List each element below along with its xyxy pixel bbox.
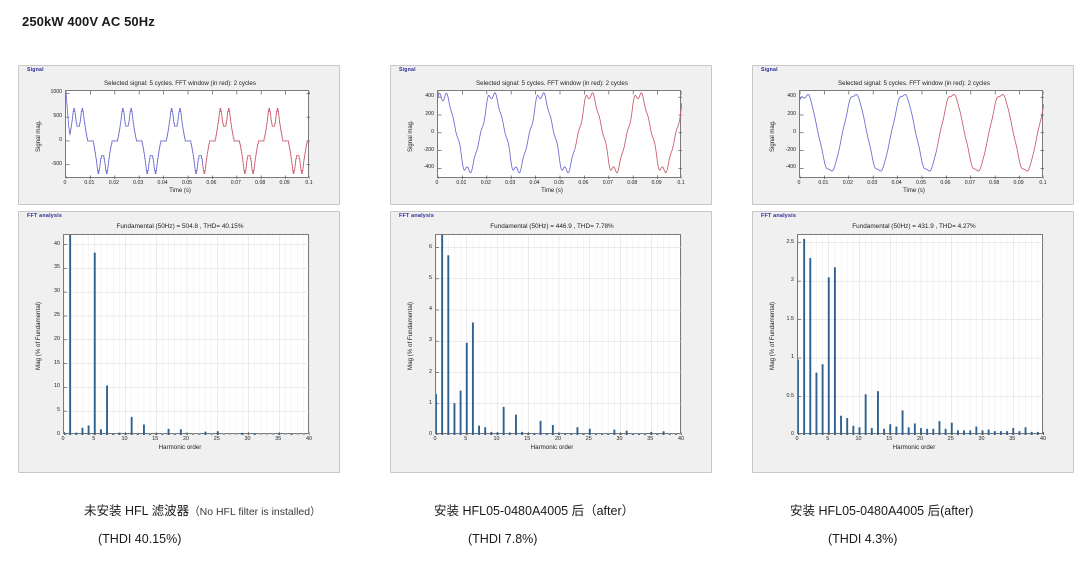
fft-ytick: 6: [413, 244, 432, 250]
fft-group-label-1: FFT analysis: [25, 213, 64, 219]
caption-2-cn: 安装 HFL05-0480A4005 后: [434, 504, 584, 518]
caption-1-en: （No HFL filter is installed）: [189, 506, 320, 518]
signal-ytick: 0: [413, 129, 434, 135]
signal-group-label-2: Signal: [397, 67, 418, 73]
fft-ytick: 0: [413, 431, 432, 437]
fft-ytick: 15: [41, 360, 60, 366]
fft-ytick: 0: [775, 431, 794, 437]
fft-ytick: 35: [41, 264, 60, 270]
signal-xtick: 0.02: [109, 180, 119, 186]
fft-group-1: FFT analysis Fundamental (50Hz) = 504.8 …: [18, 211, 340, 473]
signal-ytick: 500: [41, 113, 62, 119]
signal-trace: [66, 91, 310, 179]
signal-trace: [438, 91, 682, 179]
fft-xtick: 35: [275, 436, 281, 442]
fft-ytick: 40: [41, 241, 60, 247]
fft-xtick: 5: [464, 436, 467, 442]
signal-xtick: 0.01: [84, 180, 94, 186]
signal-plot-title: Selected signal: 5 cycles. FFT window (i…: [391, 80, 713, 87]
fft-axes-1[interactable]: [63, 234, 309, 434]
fft-ytick: 0.5: [775, 393, 794, 399]
fft-group-label-3: FFT analysis: [759, 213, 798, 219]
fft-ytick: 2: [775, 277, 794, 283]
fft-ylabel: Mag (% of Fundamental): [35, 302, 42, 370]
signal-ytick: -400: [775, 164, 796, 170]
fft-ytick: 2.5: [775, 239, 794, 245]
fft-ylabel: Mag (% of Fundamental): [769, 302, 776, 370]
signal-ytick: 1000: [41, 89, 62, 95]
fft-xtick: 10: [856, 436, 862, 442]
caption-2-thdi: (THDI 7.8%): [468, 532, 537, 546]
signal-xtick: 0.06: [206, 180, 216, 186]
signal-ylabel: Signal mag.: [36, 120, 42, 152]
fft-xlabel: Harmonic order: [19, 444, 341, 451]
signal-xtick: 0.04: [530, 180, 540, 186]
signal-xtick: 0.04: [158, 180, 168, 186]
caption-1-thdi: (THDI 40.15%): [98, 532, 181, 546]
fft-xtick: 5: [826, 436, 829, 442]
signal-ytick: 400: [413, 93, 434, 99]
signal-ylabel: Signal mag.: [408, 120, 414, 152]
fft-bars: [798, 235, 1044, 435]
signal-xtick: 0.05: [182, 180, 192, 186]
signal-ytick: 200: [413, 111, 434, 117]
panel-no-filter: Signal Selected signal: 5 cycles. FFT wi…: [18, 65, 340, 473]
fft-xtick: 15: [152, 436, 158, 442]
fft-xtick: 40: [306, 436, 312, 442]
signal-ytick: 200: [775, 111, 796, 117]
fft-ylabel: Mag (% of Fundamental): [407, 302, 414, 370]
fft-ytick: 1: [413, 400, 432, 406]
signal-xtick: 0.04: [892, 180, 902, 186]
screenshot-root: 250kW 400V AC 50Hz Signal Selected signa…: [0, 0, 1090, 574]
fft-xlabel: Harmonic order: [753, 444, 1075, 451]
fft-xtick: 0: [434, 436, 437, 442]
signal-xtick: 0.01: [456, 180, 466, 186]
signal-xtick: 0.05: [916, 180, 926, 186]
caption-3-thdi: (THDI 4.3%): [828, 532, 897, 546]
signal-xtick: 0.1: [1039, 180, 1046, 186]
signal-xlabel: Time (s): [753, 188, 1075, 194]
fft-ytick: 20: [41, 336, 60, 342]
fft-xtick: 30: [617, 436, 623, 442]
signal-axes-2[interactable]: [437, 90, 681, 178]
caption-2: 安装 HFL05-0480A4005 后（after）: [434, 502, 634, 521]
fft-bars: [64, 235, 310, 435]
signal-xtick: 0.03: [505, 180, 515, 186]
caption-3-en: (after): [940, 504, 973, 518]
signal-ytick: -200: [413, 147, 434, 153]
fft-ytick: 5: [41, 407, 60, 413]
signal-axes-3[interactable]: [799, 90, 1043, 178]
page-title: 250kW 400V AC 50Hz: [22, 14, 155, 29]
signal-trace: [800, 91, 1044, 179]
signal-xtick: 0.06: [940, 180, 950, 186]
signal-group-label-1: Signal: [25, 67, 46, 73]
fft-ytick: 4: [413, 306, 432, 312]
fft-group-2: FFT analysis Fundamental (50Hz) = 446.9 …: [390, 211, 712, 473]
signal-xtick: 0.08: [627, 180, 637, 186]
signal-xtick: 0.02: [481, 180, 491, 186]
fft-xtick: 0: [62, 436, 65, 442]
fft-xtick: 25: [586, 436, 592, 442]
signal-group-2: Signal Selected signal: 5 cycles. FFT wi…: [390, 65, 712, 205]
caption-3-cn: 安装 HFL05-0480A4005 后: [790, 504, 940, 518]
fft-xtick: 20: [917, 436, 923, 442]
panel-filter-b: Signal Selected signal: 5 cycles. FFT wi…: [752, 65, 1074, 473]
signal-xtick: 0.07: [603, 180, 613, 186]
fft-xtick: 10: [494, 436, 500, 442]
fft-plot-title: Fundamental (50Hz) = 504.8 , THD= 40.15%: [19, 223, 341, 230]
signal-ytick: -500: [41, 161, 62, 167]
fft-ytick: 10: [41, 383, 60, 389]
fft-xtick: 35: [1009, 436, 1015, 442]
signal-ytick: -200: [775, 147, 796, 153]
signal-xtick: 0.07: [231, 180, 241, 186]
signal-ytick: 0: [41, 137, 62, 143]
signal-xlabel: Time (s): [19, 188, 341, 194]
signal-xtick: 0.09: [1014, 180, 1024, 186]
signal-xtick: 0.02: [843, 180, 853, 186]
fft-xtick: 30: [979, 436, 985, 442]
fft-group-label-2: FFT analysis: [397, 213, 436, 219]
fft-axes-3[interactable]: [797, 234, 1043, 434]
signal-group-3: Signal Selected signal: 5 cycles. FFT wi…: [752, 65, 1074, 205]
fft-ytick: 0: [41, 431, 60, 437]
signal-group-label-3: Signal: [759, 67, 780, 73]
caption-3: 安装 HFL05-0480A4005 后(after): [790, 502, 973, 521]
caption-1: 未安装 HFL 滤波器（No HFL filter is installed）: [84, 502, 321, 521]
fft-xtick: 15: [524, 436, 530, 442]
fft-group-3: FFT analysis Fundamental (50Hz) = 431.9 …: [752, 211, 1074, 473]
signal-plot-title: Selected signal: 5 cycles. FFT window (i…: [19, 80, 341, 87]
fft-ytick: 25: [41, 312, 60, 318]
signal-xtick: 0: [436, 180, 439, 186]
fft-ytick: 1.5: [775, 316, 794, 322]
fft-plot-title: Fundamental (50Hz) = 446.9 , THD= 7.78%: [391, 223, 713, 230]
signal-xtick: 0.07: [965, 180, 975, 186]
panel-filter-a: Signal Selected signal: 5 cycles. FFT wi…: [390, 65, 712, 473]
signal-xlabel: Time (s): [391, 188, 713, 194]
fft-xtick: 0: [796, 436, 799, 442]
signal-xtick: 0.09: [652, 180, 662, 186]
fft-axes-2[interactable]: [435, 234, 681, 434]
fft-xtick: 25: [948, 436, 954, 442]
signal-xtick: 0: [64, 180, 67, 186]
fft-ytick: 30: [41, 288, 60, 294]
fft-bars: [436, 235, 682, 435]
fft-ytick: 3: [413, 337, 432, 343]
signal-xtick: 0.01: [818, 180, 828, 186]
fft-xtick: 10: [122, 436, 128, 442]
signal-xtick: 0: [798, 180, 801, 186]
fft-xtick: 35: [647, 436, 653, 442]
caption-1-cn: 未安装 HFL 滤波器: [84, 504, 189, 518]
fft-xtick: 15: [886, 436, 892, 442]
signal-ytick: -400: [413, 164, 434, 170]
signal-xtick: 0.03: [867, 180, 877, 186]
signal-axes-1[interactable]: [65, 90, 309, 178]
fft-xlabel: Harmonic order: [391, 444, 713, 451]
fft-xtick: 30: [245, 436, 251, 442]
fft-ytick: 2: [413, 369, 432, 375]
fft-xtick: 20: [183, 436, 189, 442]
signal-xtick: 0.1: [677, 180, 684, 186]
signal-xtick: 0.05: [554, 180, 564, 186]
fft-xtick: 25: [214, 436, 220, 442]
signal-ytick: 400: [775, 93, 796, 99]
fft-ytick: 1: [775, 354, 794, 360]
signal-xtick: 0.08: [989, 180, 999, 186]
fft-xtick: 20: [555, 436, 561, 442]
signal-group-1: Signal Selected signal: 5 cycles. FFT wi…: [18, 65, 340, 205]
signal-xtick: 0.06: [578, 180, 588, 186]
signal-xtick: 0.03: [133, 180, 143, 186]
fft-xtick: 5: [92, 436, 95, 442]
signal-ytick: 0: [775, 129, 796, 135]
caption-2-en: （after）: [584, 504, 634, 518]
signal-xtick: 0.1: [305, 180, 312, 186]
fft-ytick: 5: [413, 275, 432, 281]
fft-xtick: 40: [1040, 436, 1046, 442]
signal-xtick: 0.09: [280, 180, 290, 186]
fft-xtick: 40: [678, 436, 684, 442]
fft-plot-title: Fundamental (50Hz) = 431.9 , THD= 4.27%: [753, 223, 1075, 230]
signal-xtick: 0.08: [255, 180, 265, 186]
signal-plot-title: Selected signal: 5 cycles. FFT window (i…: [753, 80, 1075, 87]
signal-ylabel: Signal mag.: [770, 120, 776, 152]
